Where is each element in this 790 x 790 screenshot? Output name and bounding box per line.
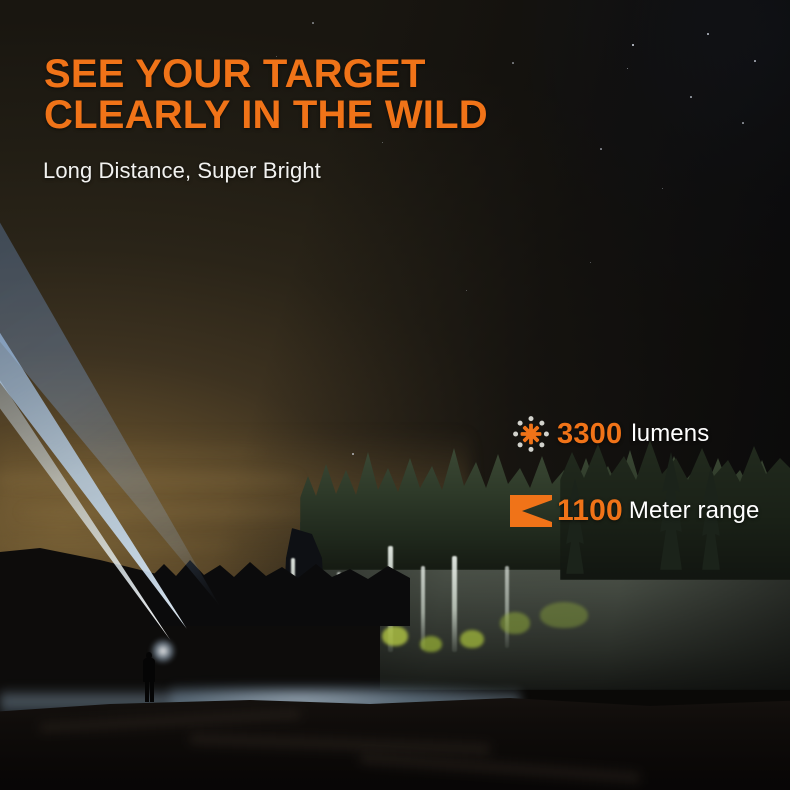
spec-value-range: 1100 <box>557 494 623 528</box>
person-torso <box>143 658 155 682</box>
person-leg-left <box>145 680 149 702</box>
advertisement-canvas: SEE YOUR TARGET CLEARLY IN THE WILD Long… <box>0 0 790 790</box>
spec-unit-lumens: lumens <box>631 420 709 448</box>
spec-row-lumens: 3300 lumens <box>505 410 780 458</box>
spec-value-lumens: 3300 <box>557 418 622 451</box>
person-silhouette <box>141 652 157 702</box>
spec-unit-range: Meter range <box>629 497 760 525</box>
subtitle: Long Distance, Super Bright <box>43 158 321 184</box>
sun-brightness-icon <box>505 415 557 453</box>
person-leg-right <box>150 680 154 702</box>
spec-row-range: 1100 Meter range <box>505 487 780 535</box>
spec-callout-list: 3300 lumens 1100 Meter range <box>505 410 780 535</box>
beam-hotspot <box>0 172 185 648</box>
beam-distance-icon <box>505 495 557 527</box>
page-title: SEE YOUR TARGET CLEARLY IN THE WILD <box>44 54 488 136</box>
